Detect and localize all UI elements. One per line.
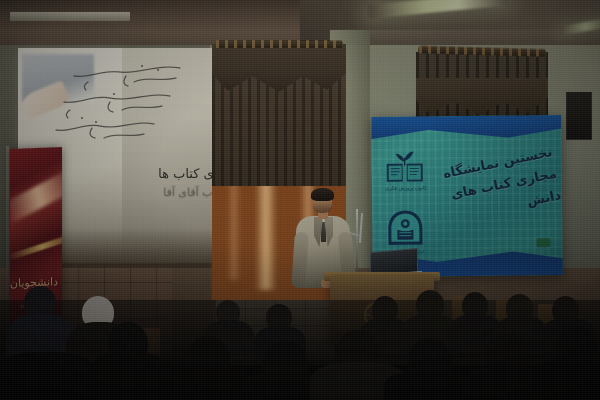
projection-screen-spill	[122, 48, 218, 263]
audience-shoulders	[384, 370, 478, 400]
ceiling	[0, 0, 600, 58]
curtain-light-shaft	[255, 100, 277, 290]
curtain-light-shaft-tertiary	[228, 120, 240, 280]
presenter-lapel-left	[314, 217, 323, 247]
audience-shoulders	[238, 372, 334, 400]
presenter-neck	[318, 210, 328, 219]
presenter-head	[313, 191, 332, 213]
dark-curtain-right	[416, 52, 548, 122]
audience-head	[506, 294, 533, 322]
audience-shoulders	[462, 366, 558, 400]
presenter-torso	[296, 216, 350, 288]
slide-hand-shape	[19, 80, 71, 119]
curtain-light-shaft-secondary	[300, 108, 316, 283]
wall-seam	[355, 40, 357, 340]
ceiling-fluorescent-strip-secondary-icon	[560, 18, 600, 36]
dark-curtain-upper	[212, 46, 346, 186]
logo-caption-2: اداره کل آموزش	[379, 248, 435, 269]
presenter-shirt	[319, 218, 328, 234]
audience-shoulders	[162, 368, 254, 400]
conference-hall-photo: ری کتاب ها جناب آقای آقا دانشجویان نمایش…	[0, 0, 600, 400]
audience-head	[416, 290, 444, 319]
curtain-valance	[212, 44, 346, 96]
curtain-rod-right	[418, 46, 546, 57]
audience-head	[556, 326, 598, 370]
audience-shoulders	[540, 318, 596, 356]
curtain-rod-rings-icon	[216, 40, 342, 48]
institution-emblem-logo-icon	[386, 208, 424, 248]
audience-shoulders	[88, 352, 172, 400]
audience-shoulders	[494, 316, 548, 354]
microphone-stand-secondary	[359, 213, 363, 243]
slide-calligraphy-icon	[30, 52, 215, 152]
banner-bottom-frame	[373, 251, 563, 277]
curtain-valance-right	[416, 78, 548, 120]
audience-shoulders	[450, 314, 502, 352]
ceiling-right-section	[300, 0, 600, 60]
audience-head	[216, 300, 240, 325]
banner-top-frame	[371, 115, 561, 139]
presenter-hair	[311, 188, 334, 201]
slide-text-line-1: ری کتاب ها	[120, 167, 220, 180]
chair-back	[120, 328, 160, 358]
audience-head	[408, 338, 452, 384]
ceiling-fluorescent-strip-icon	[368, 0, 509, 19]
presenter-arm-right	[337, 231, 356, 282]
audience-head	[266, 304, 292, 330]
brick-wall-left	[52, 255, 172, 355]
rollup-banner-glare	[10, 171, 62, 224]
chair-back	[452, 296, 486, 326]
logo-caption-1: کانون پرورش فکری	[378, 184, 434, 205]
microphone-icon	[336, 231, 345, 238]
podium-emblem-icon	[362, 300, 392, 330]
rollup-banner-subtext: نمایشگاه	[12, 299, 58, 310]
audience-shoulders	[254, 326, 306, 362]
audience-foreground-silhouette	[0, 352, 100, 400]
slide-photo-region	[22, 54, 94, 102]
screen-housing	[10, 12, 130, 21]
slide-text-line-2: جناب آقای آقا	[130, 186, 226, 198]
banner-title-text: نخستین نمایشگاه مجازی کتاب های دانش	[431, 142, 563, 231]
audience-head	[262, 340, 308, 388]
audience-shoulders	[204, 320, 254, 356]
audience-head-headscarf	[108, 322, 148, 364]
wooden-podium	[330, 276, 434, 344]
presenter-tie	[321, 222, 326, 242]
microphone-stand	[356, 209, 358, 271]
audience-head-headscarf	[186, 336, 230, 382]
banner-corner-mark	[536, 238, 550, 247]
audience-head	[552, 296, 579, 324]
ceiling-soffit	[330, 30, 600, 58]
audience-head	[462, 292, 488, 319]
chair-back	[496, 300, 528, 328]
audience-head	[372, 296, 398, 323]
brick-wall-center	[215, 288, 335, 360]
event-banner: کانون پرورش فکری اداره کل آموزش نخستین ن…	[371, 115, 563, 277]
wall-pilaster	[330, 30, 370, 330]
audience-shoulders	[360, 318, 412, 354]
audience-seating	[0, 300, 600, 400]
audience-shoulders	[310, 362, 408, 400]
rollup-banner-gold-stripe	[10, 233, 62, 261]
wall-speaker-icon	[566, 92, 592, 140]
amber-curtain-panel	[212, 92, 346, 300]
curtain-rod	[215, 41, 343, 48]
presenter-arm-left	[291, 232, 309, 289]
presenter-hand	[321, 279, 332, 288]
rollup-banner-pole	[6, 146, 9, 336]
presenter-face-shadow	[313, 200, 332, 213]
audience-shoulders	[66, 322, 134, 380]
audience-head	[486, 334, 530, 380]
audience-shoulders	[534, 358, 600, 400]
audience-head-grey-hair	[82, 296, 114, 329]
presenter-lapel-right	[324, 217, 333, 247]
dado-trim-band	[52, 250, 177, 258]
audience-shoulders	[402, 314, 458, 354]
microphone-gooseneck	[341, 230, 359, 237]
audience-head	[336, 330, 380, 376]
red-rollup-banner: دانشجویان نمایشگاه	[10, 147, 62, 334]
wall-dado	[0, 268, 600, 358]
open-book-with-sprout-logo-icon	[383, 146, 425, 184]
chair-back	[538, 304, 572, 332]
rollup-banner-text: دانشجویان	[12, 275, 58, 290]
curtain-rod-rings-right-icon	[419, 45, 545, 57]
